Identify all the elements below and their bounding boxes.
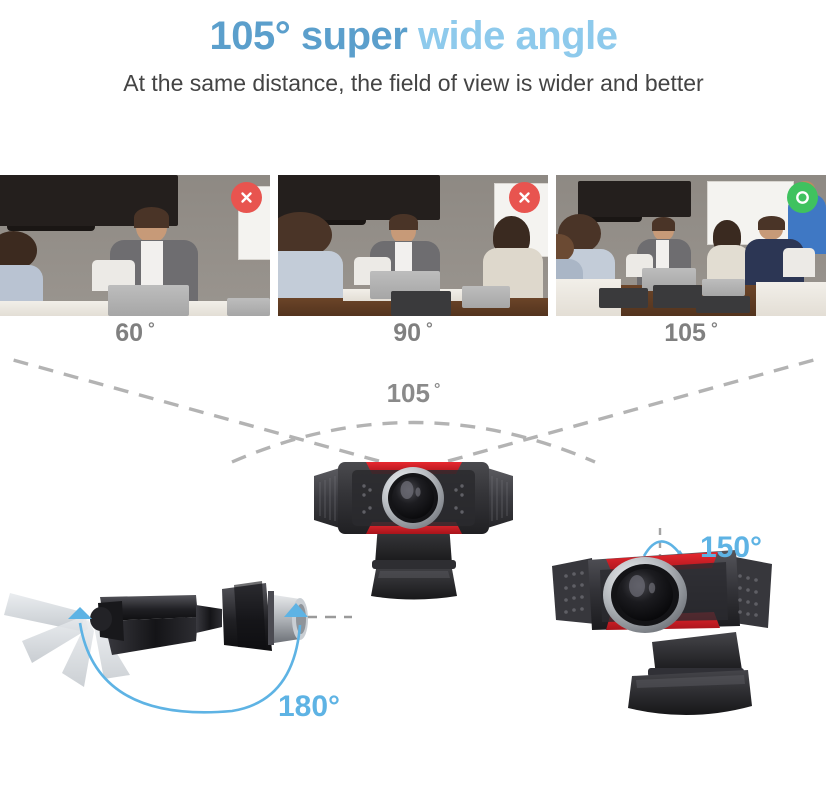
fov-angle-label: 105° [0, 378, 827, 409]
caption-90-value: 90 [393, 319, 421, 347]
title-strong: 105° super [210, 14, 408, 58]
comparison-panel-105: 105° [556, 175, 826, 353]
comparison-panels: 60° [0, 175, 827, 353]
webcam-lens-glass-150 [617, 569, 673, 621]
rotation-180-label: 180° [278, 690, 340, 724]
webcam-lens-glass [392, 477, 434, 519]
caption-60: 60° [0, 319, 270, 348]
fov-angle-degree: ° [434, 381, 440, 398]
badge-x-90 [509, 182, 540, 213]
caption-105-degree: ° [711, 319, 718, 338]
caption-105: 105° [556, 319, 826, 348]
badge-x-60 [231, 182, 262, 213]
rotation-150-diagram [540, 520, 827, 735]
page-title: 105° super wide angle [0, 14, 827, 59]
circle-icon [794, 189, 811, 206]
caption-105-value: 105 [664, 319, 706, 347]
caption-60-degree: ° [148, 319, 155, 338]
photo-60 [0, 175, 270, 316]
comparison-panel-90: 90° [278, 175, 548, 353]
caption-90-degree: ° [426, 319, 433, 338]
rotation-arrow-150 [644, 541, 680, 556]
webcam-lens-highlight [401, 481, 414, 499]
rotation-150-label: 150° [700, 531, 762, 565]
comparison-panel-60: 60° [0, 175, 270, 353]
webcam-hinge [372, 560, 456, 569]
caption-90: 90° [278, 319, 548, 348]
page-subtitle: At the same distance, the field of view … [0, 70, 827, 97]
webcam-pivot [90, 607, 112, 631]
title-light: wide angle [407, 14, 617, 58]
photo-105 [556, 175, 826, 316]
x-icon [239, 190, 254, 205]
webcam-grille-strip [268, 591, 274, 645]
x-icon [517, 190, 532, 205]
photo-90 [278, 175, 548, 316]
badge-ok-105 [787, 182, 818, 213]
caption-60-value: 60 [115, 319, 143, 347]
fov-angle-value: 105 [387, 378, 430, 408]
infographic-page: 105° super wide angle At the same distan… [0, 0, 827, 787]
webcam-neck [196, 605, 222, 633]
